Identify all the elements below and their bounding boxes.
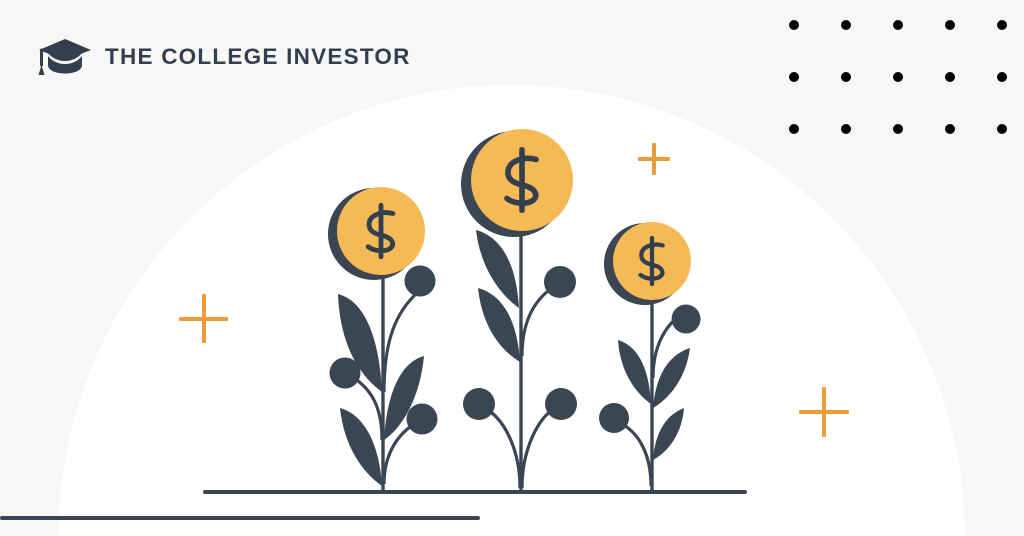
- plant-center-berry-stem-3: [522, 410, 552, 488]
- plus-icon-middle: [638, 143, 670, 175]
- plant-right-leaf-2: [653, 348, 690, 408]
- dot-3-1: [789, 124, 799, 134]
- graduation-cap-icon: [34, 36, 92, 78]
- dot-3-5: [997, 124, 1007, 134]
- plus-right-vertical: [822, 387, 826, 437]
- site-logo[interactable]: THE COLLEGE INVESTOR: [34, 37, 411, 77]
- plant-left-berry-1: [405, 266, 436, 297]
- dot-1-4: [945, 20, 955, 30]
- dot-2-2: [841, 72, 851, 82]
- plant-right-leaf-3: [653, 408, 684, 460]
- plant-center-berry-3: [545, 388, 577, 420]
- plant-right-leaf-1: [618, 340, 651, 404]
- plant-right-berry-stem-2: [622, 424, 651, 486]
- plant-right: [599, 222, 701, 492]
- plant-left-leaf-3: [340, 408, 382, 486]
- plus-icon-right: [799, 387, 849, 437]
- plant-center-berry-stem-2: [488, 410, 520, 488]
- plant-right-berry-1: [672, 305, 701, 334]
- bottom-rule: [0, 516, 480, 520]
- plant-center-berry-stem-1: [522, 288, 552, 356]
- dot-1-3: [893, 20, 903, 30]
- dot-3-4: [945, 124, 955, 134]
- plant-center-berry-1: [544, 266, 576, 298]
- plant-left: [328, 187, 438, 492]
- plus-middle-vertical: [652, 143, 656, 175]
- plant-center-berry-2: [463, 388, 495, 420]
- dot-3-2: [841, 124, 851, 134]
- plant-center: [461, 129, 577, 492]
- dot-2-1: [789, 72, 799, 82]
- dot-1-5: [997, 20, 1007, 30]
- dot-2-3: [893, 72, 903, 82]
- dot-3-3: [893, 124, 903, 134]
- dot-1-2: [841, 20, 851, 30]
- illustration-canvas: THE COLLEGE INVESTOR: [0, 0, 1024, 536]
- plus-icon-left: [179, 294, 228, 343]
- plant-left-berry-3: [407, 404, 438, 435]
- dot-grid-decoration: [789, 20, 1007, 134]
- dot-2-5: [997, 72, 1007, 82]
- plant-right-berry-2: [599, 403, 629, 433]
- dot-2-4: [945, 72, 955, 82]
- ground-line: [203, 490, 747, 494]
- dot-1-1: [789, 20, 799, 30]
- brand-name: THE COLLEGE INVESTOR: [105, 46, 411, 69]
- plus-left-vertical: [202, 294, 206, 343]
- plant-left-berry-2: [330, 358, 361, 389]
